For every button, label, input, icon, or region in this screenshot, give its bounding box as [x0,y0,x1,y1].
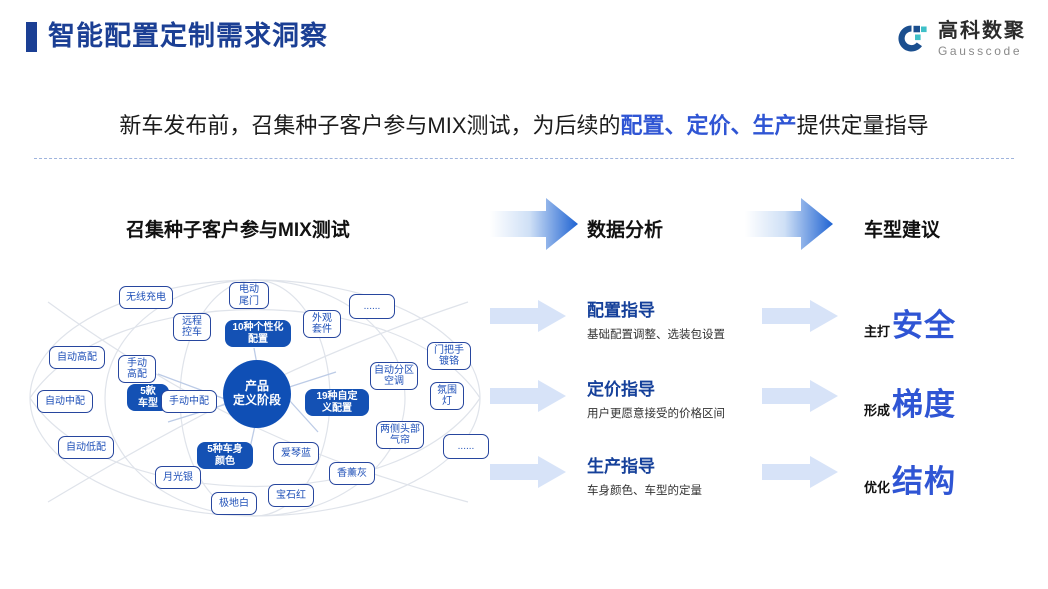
diagram-leaf-11-label: 手动中配 [169,396,209,408]
diagram-leaf-node-5[interactable]: 外观 套件 [303,310,341,338]
diagram-leaf-node-11[interactable]: 手动中配 [161,390,217,413]
recommendation-prefix-2: 形成 [864,400,890,419]
diagram-leaf-node-14[interactable]: 两侧头部 气帘 [376,421,424,449]
column-header-right: 车型建议 [864,215,940,242]
brand-logo: 高科数聚 Gausscode [895,21,1026,57]
diagram-hub-1-line-1: 10种个性化 [232,322,283,334]
diagram-center-line-1: 产品 [245,380,269,394]
diagram-leaf-node-8[interactable]: 门把手 镀铬 [427,342,471,370]
diagram-leaf-5-line-2: 套件 [312,324,332,336]
analysis-desc-1: 基础配置调整、选装包设置 [587,326,725,342]
page-title: 智能配置定制需求洞察 [48,19,328,53]
analysis-item-1: 配置指导 基础配置调整、选装包设置 [587,300,725,342]
diagram-leaf-node-4[interactable]: 远程 控车 [173,313,211,341]
subtitle-part-2: 提供定量指导 [797,113,929,138]
diagram-leaf-12-line-1: 氛围 [437,385,457,397]
diagram-hub-3-line-1: 19种自定 [316,391,357,403]
flow-arrow-row-1b [762,300,838,332]
title-accent-bar [26,22,37,52]
analysis-item-2: 定价指导 用户更愿意接受的价格区间 [587,379,725,421]
diagram-leaf-8-line-2: 镀铬 [439,356,459,368]
diagram-leaf-4-line-2: 控车 [182,327,202,339]
recommendation-keyword-1: 安全 [892,300,956,345]
header-divider [34,158,1014,159]
diagram-center-line-2: 定义阶段 [233,394,281,408]
diagram-leaf-7-line-2: 高配 [127,369,147,381]
diagram-hub-node-1[interactable]: 10种个性化 配置 [225,320,291,347]
diagram-hub-2-line-1: 5款 [140,386,156,398]
analysis-desc-3: 车身颜色、车型的定量 [587,482,702,498]
diagram-hub-4-line-1: 5种车身 [207,444,243,456]
diagram-leaf-node-16[interactable]: 爱琴蓝 [273,442,319,465]
diagram-hub-2-line-2: 车型 [138,398,158,410]
recommendation-prefix-1: 主打 [864,321,890,340]
slide-subtitle: 新车发布前，召集种子客户参与MIX测试，为后续的配置、定价、生产提供定量指导 [0,108,1048,140]
analysis-title-1: 配置指导 [587,300,725,322]
diagram-leaf-node-12[interactable]: 氛围 灯 [430,382,464,410]
brand-logo-text: 高科数聚 Gausscode [938,21,1026,57]
diagram-leaf-2-line-1: 电动 [239,284,259,296]
flow-arrow-header-1 [490,198,578,250]
diagram-leaf-node-9[interactable]: 自动分区 空调 [370,362,418,390]
column-header-middle: 数据分析 [587,215,663,242]
diagram-leaf-16-label: 爱琴蓝 [281,448,311,460]
diagram-leaf-node-7[interactable]: 手动 高配 [118,355,156,383]
diagram-hub-4-line-2: 颜色 [215,456,235,468]
diagram-leaf-12-line-2: 灯 [442,396,452,408]
diagram-hub-node-4[interactable]: 5种车身 颜色 [197,442,253,469]
diagram-leaf-20-label: 宝石红 [276,490,306,502]
column-header-left: 召集种子客户参与MIX测试 [126,215,350,242]
diagram-leaf-17-label: 月光银 [163,472,193,484]
diagram-leaf-13-label: 自动低配 [66,442,106,454]
recommendation-keyword-3: 结构 [892,456,956,501]
diagram-leaf-18-label: 香薰灰 [337,468,367,480]
diagram-hub-3-line-2: 义配置 [322,403,352,415]
recommendation-item-2: 形成 梯度 [864,379,956,424]
subtitle-part-1: 新车发布前，召集种子客户参与MIX测试，为后续的 [119,113,620,138]
recommendation-prefix-3: 优化 [864,477,890,496]
diagram-leaf-8-line-1: 门把手 [434,345,464,357]
analysis-item-3: 生产指导 车身颜色、车型的定量 [587,456,702,498]
diagram-leaf-14-line-1: 两侧头部 [380,424,420,436]
flow-arrow-row-2b [762,380,838,412]
analysis-title-3: 生产指导 [587,456,702,478]
gausscode-logo-icon [895,22,929,56]
diagram-hub-node-3[interactable]: 19种自定 义配置 [305,389,369,416]
brand-name-en: Gausscode [938,45,1026,57]
slide-root: 智能配置定制需求洞察 高科数聚 Gausscode 新车发布前，召集种子客户参与… [0,0,1048,589]
diagram-leaf-node-19[interactable]: 极地白 [211,492,257,515]
diagram-leaf-4-line-1: 远程 [182,316,202,328]
diagram-leaf-7-line-1: 手动 [127,358,147,370]
diagram-leaf-10-label: 自动中配 [45,396,85,408]
diagram-leaf-15-label: ...... [458,441,475,453]
diagram-hub-1-line-2: 配置 [248,334,268,346]
diagram-leaf-node-6[interactable]: 自动高配 [49,346,105,369]
analysis-title-2: 定价指导 [587,379,725,401]
diagram-leaf-5-line-1: 外观 [312,313,332,325]
diagram-leaf-node-10[interactable]: 自动中配 [37,390,93,413]
diagram-leaf-node-18[interactable]: 香薰灰 [329,462,375,485]
flow-arrow-row-3b [762,456,838,488]
diagram-leaf-node-17[interactable]: 月光银 [155,466,201,489]
brand-name-cn: 高科数聚 [938,21,1026,41]
analysis-desc-2: 用户更愿意接受的价格区间 [587,405,725,421]
diagram-leaf-19-label: 极地白 [219,498,249,510]
recommendation-item-1: 主打 安全 [864,300,956,345]
slide-header: 智能配置定制需求洞察 高科数聚 Gausscode [0,0,1048,78]
recommendation-item-3: 优化 结构 [864,456,956,501]
subtitle-highlight: 配置、定价、生产 [621,113,797,138]
diagram-leaf-3-label: ...... [364,301,381,313]
flow-arrow-header-2 [745,198,833,250]
diagram-leaf-node-1[interactable]: 无线充电 [119,286,173,309]
diagram-leaf-6-label: 自动高配 [57,352,97,364]
diagram-leaf-9-line-1: 自动分区 [374,365,414,377]
diagram-leaf-14-line-2: 气帘 [390,435,410,447]
diagram-leaf-9-line-2: 空调 [384,376,404,388]
diagram-leaf-1-label: 无线充电 [126,292,166,304]
diagram-leaf-node-20[interactable]: 宝石红 [268,484,314,507]
recommendation-keyword-2: 梯度 [892,379,956,424]
mind-map-diagram: 产品 定义阶段 10种个性化 配置 5款 车型 19种自定 义配置 5种车身 颜… [18,262,528,534]
diagram-center-node[interactable]: 产品 定义阶段 [223,360,291,428]
diagram-leaf-2-line-2: 尾门 [239,296,259,308]
diagram-leaf-node-13[interactable]: 自动低配 [58,436,114,459]
diagram-leaf-node-2[interactable]: 电动 尾门 [229,282,269,309]
diagram-leaf-node-3[interactable]: ...... [349,294,395,319]
diagram-leaf-node-15[interactable]: ...... [443,434,489,459]
